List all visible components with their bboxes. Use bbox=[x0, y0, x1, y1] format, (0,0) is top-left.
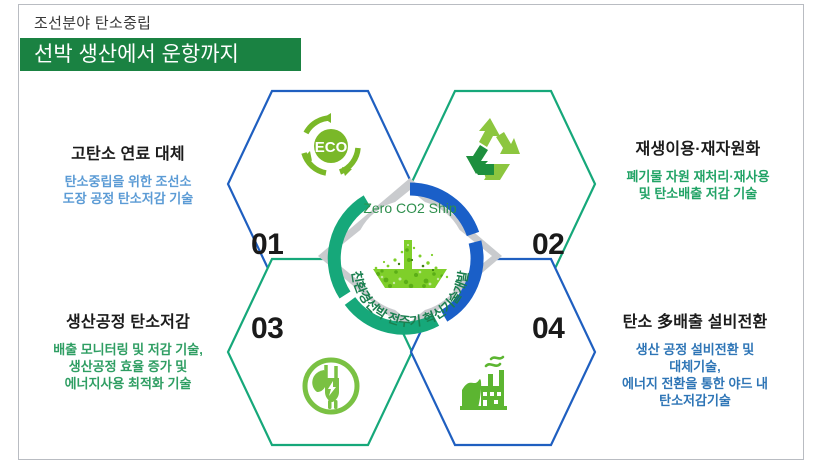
section-body-line: 에너지사용 최적화 기술 bbox=[24, 375, 232, 392]
svg-text:ECO: ECO bbox=[315, 139, 348, 156]
section-body-01: 탄소중립을 위한 조선소 도장 공정 탄소저감 기술 bbox=[30, 173, 226, 207]
section-heading-01: 고탄소 연료 대체 bbox=[30, 140, 226, 164]
section-body-line: 배출 모니터링 및 저감 기술, bbox=[24, 341, 232, 358]
section-body-line: 대체기술, bbox=[590, 358, 800, 375]
section-body-line: 도장 공정 탄소저감 기술 bbox=[30, 190, 226, 207]
center-title: Zero CO2 Ship bbox=[330, 200, 490, 216]
eco-factory-icon bbox=[452, 348, 524, 420]
section-body-line: 생산공정 효율 증가 및 bbox=[24, 358, 232, 375]
hexagon-number-04: 04 bbox=[532, 312, 564, 346]
section-bottom-left: 생산공정 탄소저감 배출 모니터링 및 저감 기술, 생산공정 효율 증가 및 … bbox=[24, 308, 232, 392]
section-body-line: 탄소중립을 위한 조선소 bbox=[30, 173, 226, 190]
section-top-right: 재생이용·재자원화 폐기물 자원 재처리·재사용 및 탄소배출 저감 기술 bbox=[598, 135, 798, 202]
section-heading-03: 생산공정 탄소저감 bbox=[24, 308, 232, 332]
eco-cycle-icon: ECO bbox=[295, 110, 367, 182]
eco-plug-icon bbox=[295, 348, 367, 420]
section-body-line: 폐기물 자원 재처리·재사용 bbox=[598, 168, 798, 185]
section-body-line: 탄소저감기술 bbox=[590, 392, 800, 409]
section-top-left: 고탄소 연료 대체 탄소중립을 위한 조선소 도장 공정 탄소저감 기술 bbox=[30, 140, 226, 207]
hexagon-number-03: 03 bbox=[251, 312, 283, 346]
section-heading-02: 재생이용·재자원화 bbox=[598, 135, 798, 159]
section-heading-04: 탄소 多배출 설비전환 bbox=[590, 308, 800, 332]
section-body-line: 에너지 전환을 통한 야드 내 bbox=[590, 375, 800, 392]
infographic-slide: 조선분야 탄소중립 선박 생산에서 운항까지 01 ECO bbox=[0, 0, 820, 469]
kicker-text: 조선분야 탄소중립 bbox=[34, 12, 151, 33]
section-body-03: 배출 모니터링 및 저감 기술, 생산공정 효율 증가 및 에너지사용 최적화 … bbox=[24, 341, 232, 392]
recycle-icon bbox=[454, 110, 526, 182]
section-body-line: 및 탄소배출 저감 기술 bbox=[598, 185, 798, 202]
section-body-02: 폐기물 자원 재처리·재사용 및 탄소배출 저감 기술 bbox=[598, 168, 798, 202]
section-body-line: 생산 공정 설비전환 및 bbox=[590, 341, 800, 358]
section-body-04: 생산 공정 설비전환 및 대체기술, 에너지 전환을 통한 야드 내 탄소저감기… bbox=[590, 341, 800, 409]
page-title: 선박 생산에서 운항까지 bbox=[34, 41, 289, 69]
section-bottom-right: 탄소 多배출 설비전환 생산 공정 설비전환 및 대체기술, 에너지 전환을 통… bbox=[590, 308, 800, 409]
